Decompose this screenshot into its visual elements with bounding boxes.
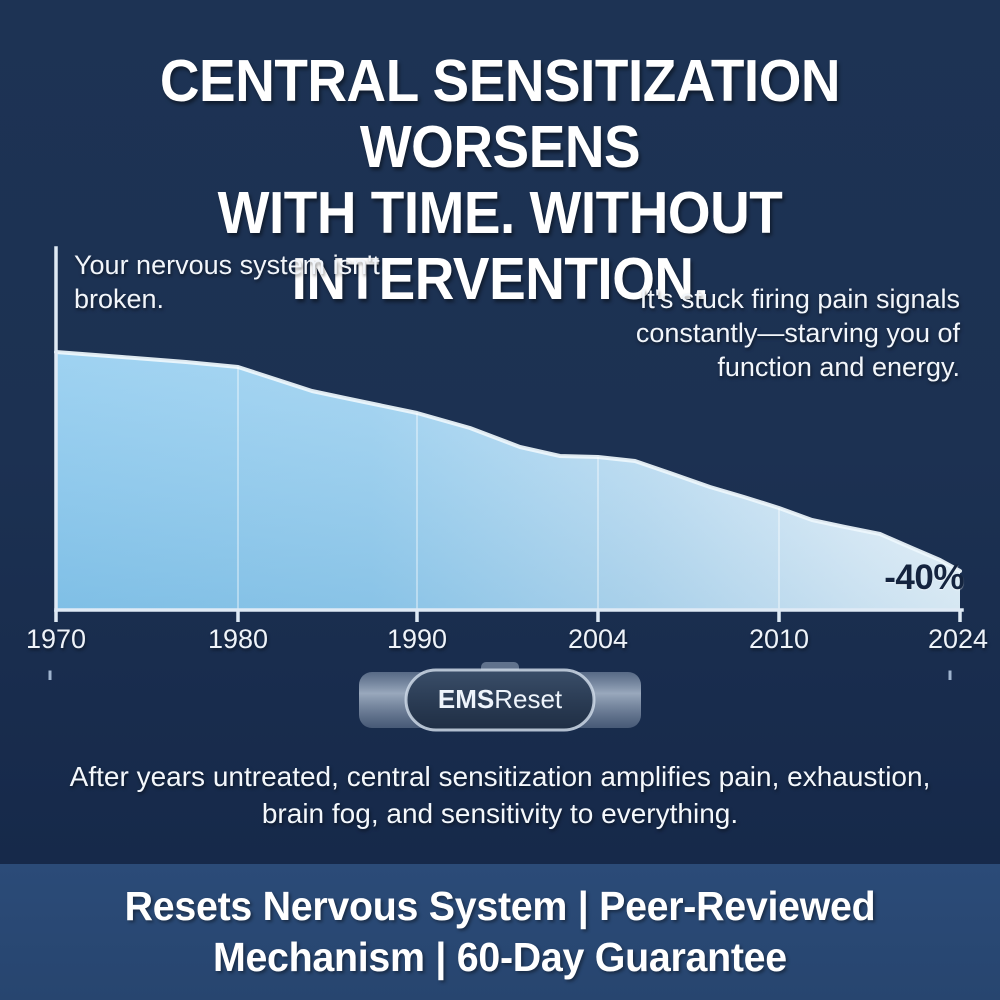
device-brand-light: Reset <box>494 684 563 714</box>
banner-line-2: Mechanism | 60-Day Guarantee <box>213 933 787 982</box>
device-brand-text: EMSReset <box>438 684 563 714</box>
banner-line-1: Resets Nervous System | Peer-Reviewed <box>125 882 876 931</box>
chart-area-series <box>56 352 960 610</box>
annotation-left: Your nervous system isn't broken. <box>74 248 454 316</box>
chart-x-ticks <box>56 610 960 622</box>
device-svg: EMSReset <box>357 660 643 740</box>
device-brand-bold: EMS <box>438 684 494 714</box>
annotation-right: It's stuck firing pain signals constantl… <box>540 282 960 384</box>
decline-percent-label: -40% <box>884 558 964 598</box>
bottom-benefit-banner: Resets Nervous System | Peer-Reviewed Me… <box>0 864 1000 1000</box>
x-tick-label-2004: 2004 <box>568 626 628 653</box>
caption-text: After years untreated, central sensitiza… <box>50 758 950 832</box>
emsreset-device: EMSReset <box>357 660 643 740</box>
x-tick-label-2024: 2024 <box>928 626 988 653</box>
x-tick-label-1980: 1980 <box>208 626 268 653</box>
x-tick-label-1990: 1990 <box>387 626 447 653</box>
infographic-poster: CENTRAL SENSITIZATION WORSENS WITH TIME.… <box>0 0 1000 1000</box>
x-tick-label-2010: 2010 <box>749 626 809 653</box>
x-tick-label-1970: 1970 <box>26 626 86 653</box>
